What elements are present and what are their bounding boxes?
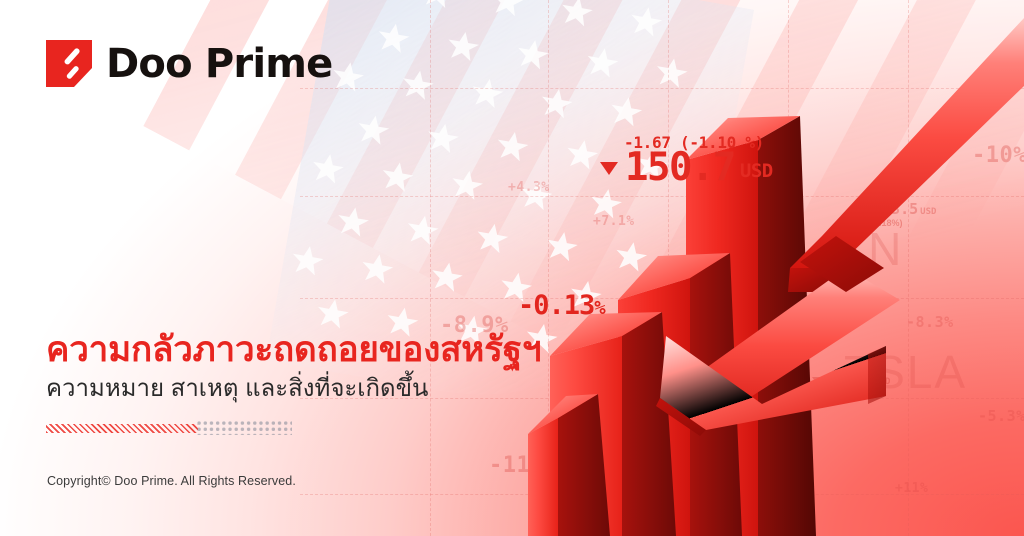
bar-percent-value: -0.13 [518,290,594,321]
divider-dots [196,420,292,435]
doo-prime-logo-mark-icon [46,40,92,87]
divider-hatch [46,424,198,433]
page-subtitle: ความหมาย สาเหตุ และสิ่งที่จะเกิดขึ้น [46,375,428,404]
brand-logo[interactable]: Doo Prime [46,40,332,87]
down-caret-icon [600,162,618,175]
price-callout: -1.67 (-1.10 %) 150.7 USD [600,133,773,186]
brand-name: Doo Prime [106,44,332,84]
price-value: 150.7 [625,150,735,186]
price-currency: USD [740,160,773,182]
decorative-divider [46,420,286,436]
promotional-banner: +4.3% +7.1% -8.9% -11% -10% -8.3% -5.3% … [0,0,1024,536]
bar-percent-callout: -0.13% [518,290,605,321]
bar-percent-unit: % [594,297,604,319]
page-title: ความกลัวภาวะถดถอยของสหรัฐฯ [46,330,541,369]
copyright-text: Copyright© Doo Prime. All Rights Reserve… [47,474,296,488]
bar-1 [528,394,610,536]
